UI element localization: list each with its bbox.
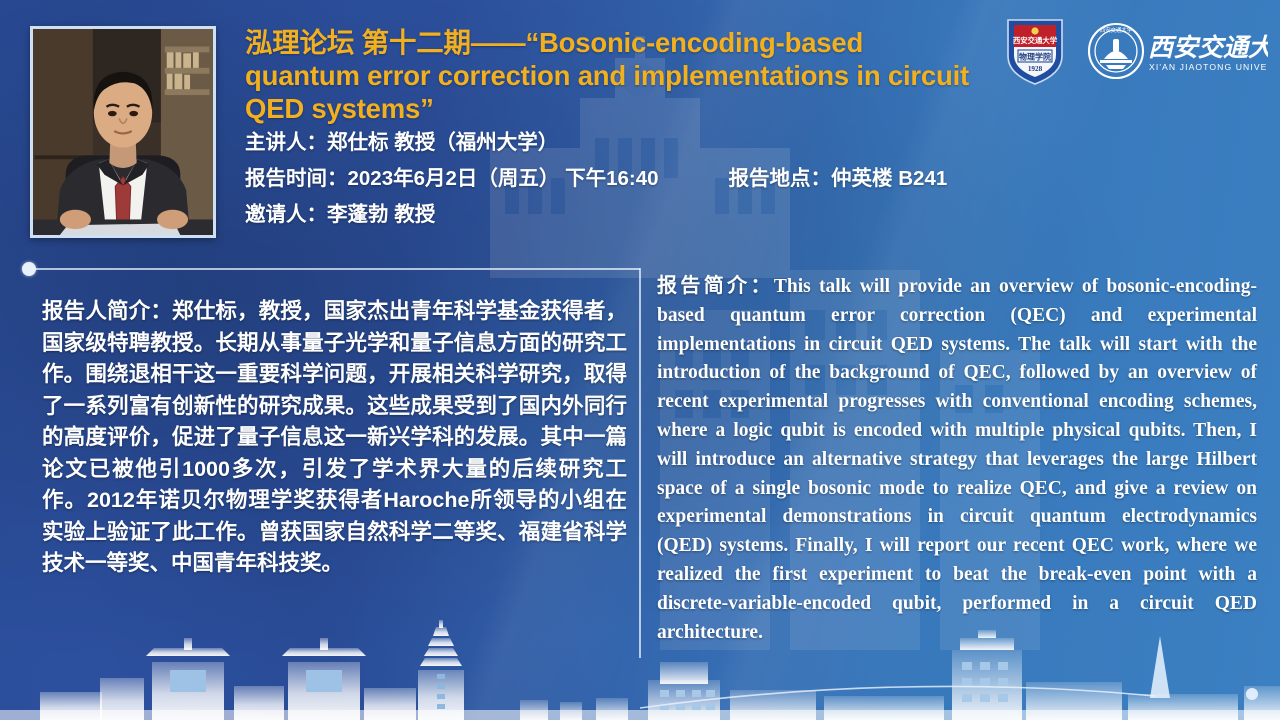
seal-wordmark-en: XI'AN JIAOTONG UNIVERSITY: [1149, 62, 1268, 72]
xjtu-wordmark-icon: 西安交通大学 西安交通大學 XI'AN JIAOTONG UNIVERSITY: [1086, 19, 1268, 83]
abstract-panel: 报告简介：This talk will provide an overview …: [657, 272, 1257, 647]
seal-ring-text: 西安交通大学: [1100, 26, 1133, 34]
skyline-arc-and-spire: [640, 636, 1258, 708]
speaker-line: 主讲人：郑仕标 教授（福州大学）: [245, 132, 1065, 153]
vertical-divider: [639, 268, 641, 658]
speaker-photo: [30, 26, 216, 238]
time-label: 报告时间：2023年6月2日（周五） 下午16:40: [245, 168, 659, 189]
poster-title: 泓理论坛 第十二期——“Bosonic-encoding-based quant…: [245, 26, 980, 125]
host-line: 邀请人：李蓬勃 教授: [245, 204, 1065, 225]
shield-top-text: 西安交通大学: [1013, 36, 1058, 45]
seminar-poster: 泓理论坛 第十二期——“Bosonic-encoding-based quant…: [0, 0, 1280, 720]
xian-skyline-silhouette: [0, 610, 1280, 720]
time-venue-row: 报告时间：2023年6月2日（周五） 下午16:40 报告地点：仲英楼 B241: [245, 168, 1065, 189]
physics-school-shield-logo: 西安交通大学 物理学院 1928: [998, 14, 1072, 88]
speaker-portrait-illustration: [33, 29, 213, 235]
university-logos: 西安交通大学 物理学院 1928 西安交通大学 西安交通大學 XI'AN JIA: [998, 14, 1268, 88]
horizontal-divider: [30, 268, 640, 270]
xjtu-seal-icon: 西安交通大学: [1089, 24, 1143, 78]
abstract-text: This talk will provide an overview of bo…: [657, 276, 1257, 643]
seal-wordmark-cn: 西安交通大學: [1148, 34, 1268, 62]
venue-label: 报告地点：仲英楼 B241: [729, 168, 948, 189]
event-meta: 主讲人：郑仕标 教授（福州大学） 报告时间：2023年6月2日（周五） 下午16…: [245, 132, 1065, 240]
xjtu-seal-logo: 西安交通大学 西安交通大學 XI'AN JIAOTONG UNIVERSITY: [1086, 19, 1268, 83]
speaker-bio-text: 报告人简介：郑仕标，教授，国家杰出青年科学基金获得者，国家级特聘教授。长期从事量…: [42, 296, 627, 580]
abstract-lead-label: 报告简介：: [657, 275, 774, 297]
shield-crest-icon: 西安交通大学 物理学院 1928: [998, 14, 1072, 88]
shield-year: 1928: [1028, 65, 1043, 73]
skyline-left-group: [40, 620, 464, 720]
shield-bottom-text: 物理学院: [1019, 52, 1051, 62]
